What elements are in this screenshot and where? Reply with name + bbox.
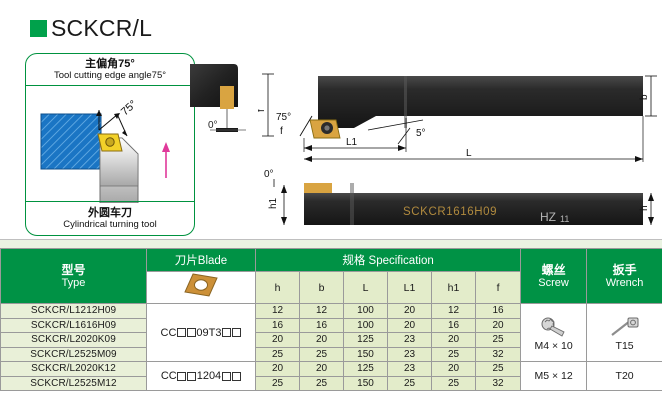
wrench-label: T15: [587, 340, 662, 352]
cell-screw-group-1: M4 × 10: [521, 304, 587, 362]
table-row: SCKCR/L1212H09 CC09T3 12 12 100 20 12 16…: [1, 304, 662, 319]
page-title-row: SCKCR/L: [0, 14, 152, 42]
header-type-en: Type: [1, 277, 146, 289]
cell-L1: 23: [388, 333, 432, 348]
blade-prefix: CC: [161, 327, 177, 339]
header-blade-en: Blade: [198, 255, 227, 267]
header-screw-en: Screw: [521, 277, 586, 289]
cell-h1: 20: [432, 333, 476, 348]
application-illustration: 75°: [26, 86, 194, 203]
insert-seating-view: 0°: [186, 58, 258, 158]
cell-type: SCKCR/L2525M09: [1, 347, 147, 362]
cell-f: 20: [476, 318, 521, 333]
cell-L: 100: [344, 318, 388, 333]
title-marker-icon: [30, 20, 47, 37]
header-type-cn: 型号: [1, 264, 146, 277]
subheader-f: f: [476, 272, 521, 304]
brand-number: 11: [560, 214, 569, 224]
subheader-L1: L1: [388, 272, 432, 304]
cell-h1: 20: [432, 362, 476, 377]
svg-text:L: L: [466, 148, 472, 159]
cell-h: 16: [256, 318, 300, 333]
tool-application-panel: 主偏角75° Tool cutting edge angle75°: [25, 53, 195, 236]
header-wrench-en: Wrench: [587, 277, 662, 289]
cell-type: SCKCR/L2525M12: [1, 376, 147, 391]
blade-mid: 1204: [197, 370, 221, 382]
cell-b: 25: [300, 347, 344, 362]
header-spec-en: Specification: [369, 255, 434, 267]
cell-L: 150: [344, 347, 388, 362]
cell-L1: 23: [388, 347, 432, 362]
panel-footer: 外圆车刀 Cylindrical turning tool: [26, 201, 194, 235]
subheader-h1: h1: [432, 272, 476, 304]
table-row: SCKCR/L2020K12 CC1204 20 20 125 23 20 25…: [1, 362, 662, 377]
cell-h: 20: [256, 362, 300, 377]
panel-header-cn: 主偏角75°: [85, 58, 135, 70]
brand-marking: HZ: [540, 210, 556, 224]
svg-text:f: f: [280, 126, 283, 137]
panel-footer-cn: 外圆车刀: [88, 207, 132, 219]
svg-text:5°: 5°: [416, 128, 426, 139]
cell-blade-group-1: CC09T3: [147, 304, 256, 362]
panel-footer-en: Cylindrical turning tool: [63, 219, 156, 230]
header-wrench-cn: 扳手: [587, 264, 662, 277]
cell-wrench-group-2: T20: [587, 362, 662, 391]
header-screw-cn: 螺丝: [521, 264, 586, 277]
blade-prefix: CC: [161, 370, 177, 382]
cell-L1: 25: [388, 376, 432, 391]
cell-f: 16: [476, 304, 521, 319]
page-title: SCKCR/L: [51, 15, 152, 42]
header-type: 型号 Type: [1, 249, 147, 304]
tool-top-view: 75° f 5° f b L1: [258, 58, 658, 163]
cell-blade-group-2: CC1204: [147, 362, 256, 391]
cell-type: SCKCR/L2020K09: [1, 333, 147, 348]
cell-f: 32: [476, 347, 521, 362]
cell-screw-group-2: M5 × 12: [521, 362, 587, 391]
product-spec-sheet: SCKCR/L 主偏角75° Tool cutting edge angle75…: [0, 0, 662, 401]
cell-h1: 16: [432, 318, 476, 333]
table-header-row: 型号 Type 刀片Blade 规格 Specification 螺丝 Scre…: [1, 249, 662, 272]
header-wrench: 扳手 Wrench: [587, 249, 662, 304]
header-spec-cn: 规格: [342, 255, 365, 267]
cell-h: 25: [256, 347, 300, 362]
cell-L1: 20: [388, 304, 432, 319]
cell-f: 25: [476, 333, 521, 348]
cell-L: 125: [344, 362, 388, 377]
insert-angle-label: 0°: [208, 120, 218, 131]
insert-rhombic-icon: [179, 272, 223, 298]
subheader-h: h: [256, 272, 300, 304]
subheader-L: L: [344, 272, 388, 304]
panel-header: 主偏角75° Tool cutting edge angle75°: [26, 54, 194, 86]
cell-b: 12: [300, 304, 344, 319]
cell-h: 25: [256, 376, 300, 391]
svg-text:f: f: [258, 109, 267, 112]
cell-h1: 12: [432, 304, 476, 319]
svg-text:h: h: [639, 205, 650, 211]
cell-h: 20: [256, 333, 300, 348]
header-blade: 刀片Blade: [147, 249, 256, 272]
tool-side-view: 0° SCKCR1616H09 HZ 11 h1 h: [258, 163, 658, 235]
specification-table: 型号 Type 刀片Blade 规格 Specification 螺丝 Scre…: [0, 248, 662, 391]
cell-type: SCKCR/L2020K12: [1, 362, 147, 377]
header-screw: 螺丝 Screw: [521, 249, 587, 304]
cell-b: 20: [300, 362, 344, 377]
subheader-b: b: [300, 272, 344, 304]
svg-text:75°: 75°: [276, 112, 291, 123]
panel-header-en: Tool cutting edge angle75°: [54, 70, 166, 81]
header-blade-cn: 刀片: [175, 255, 198, 267]
svg-text:75°: 75°: [119, 98, 139, 118]
torx-screw-icon: [539, 316, 569, 338]
svg-text:L1: L1: [346, 137, 358, 148]
cell-type: SCKCR/L1212H09: [1, 304, 147, 319]
cell-L1: 23: [388, 362, 432, 377]
cell-L: 125: [344, 333, 388, 348]
svg-text:0°: 0°: [264, 169, 274, 180]
cell-type: SCKCR/L1616H09: [1, 318, 147, 333]
shank-marking: SCKCR1616H09: [403, 206, 497, 218]
svg-text:b: b: [639, 94, 650, 100]
cell-L: 150: [344, 376, 388, 391]
cell-f: 25: [476, 362, 521, 377]
blade-icon-cell: [147, 272, 256, 304]
blade-mid: 09T3: [196, 327, 221, 339]
cell-L1: 20: [388, 318, 432, 333]
cell-b: 25: [300, 376, 344, 391]
cell-h: 12: [256, 304, 300, 319]
torx-key-icon: [608, 316, 642, 338]
cell-wrench-group-1: T15: [587, 304, 662, 362]
cell-f: 32: [476, 376, 521, 391]
header-specification: 规格 Specification: [256, 249, 521, 272]
cell-h1: 25: [432, 376, 476, 391]
cell-L: 100: [344, 304, 388, 319]
cell-h1: 25: [432, 347, 476, 362]
cell-b: 16: [300, 318, 344, 333]
svg-text:h1: h1: [268, 197, 279, 209]
cell-b: 20: [300, 333, 344, 348]
screw-label: M4 × 10: [521, 340, 586, 352]
accent-band: [0, 240, 662, 248]
